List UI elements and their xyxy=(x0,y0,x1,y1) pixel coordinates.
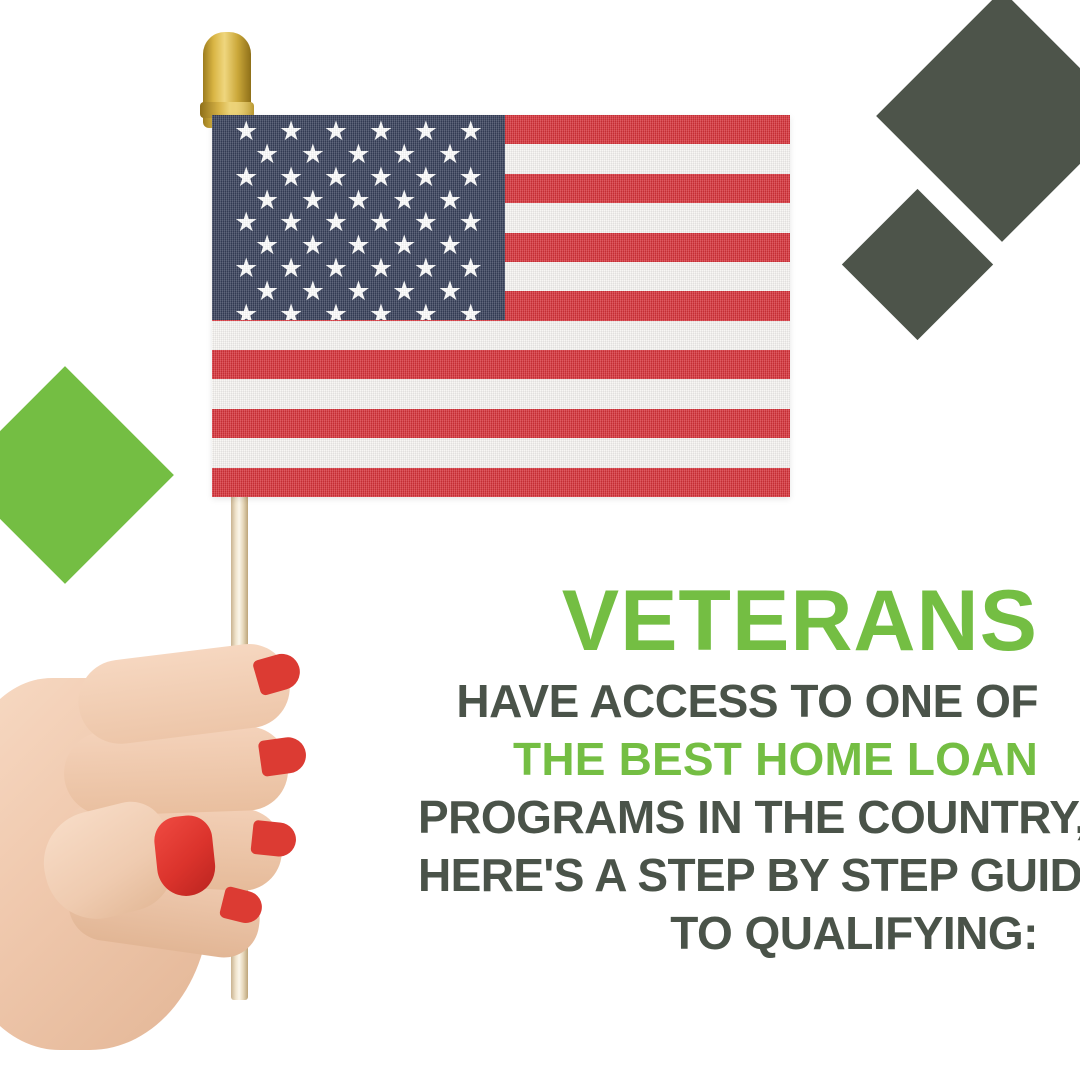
fingernail xyxy=(250,820,297,858)
headline-line-6: TO QUALIFYING: xyxy=(418,904,1038,962)
flag-stripe xyxy=(212,468,790,497)
headline-block: VETERANS HAVE ACCESS TO ONE OF THE BEST … xyxy=(418,578,1038,962)
flag-stripe xyxy=(212,438,790,467)
headline-line-5: HERE'S A STEP BY STEP GUIDE xyxy=(418,846,1038,904)
flag-star-icon: ★ xyxy=(413,301,439,321)
flag-star-icon: ★ xyxy=(368,301,394,321)
finger-middle xyxy=(63,725,290,817)
fingernail xyxy=(258,735,309,777)
flag-star-icon: ★ xyxy=(323,301,349,321)
headline-line-1: VETERANS xyxy=(418,578,1038,664)
flag-star-row: ★★★★★★ xyxy=(212,301,505,321)
headline-line-4: PROGRAMS IN THE COUNTRY, xyxy=(418,788,1038,846)
american-flag: ★★★★★★★★★★★★★★★★★★★★★★★★★★★★★★★★★★★★★★★★… xyxy=(212,115,790,497)
flag-star-icon: ★ xyxy=(458,301,484,321)
flag-stripe xyxy=(212,379,790,408)
flag-stripe xyxy=(212,350,790,379)
diamond-decoration-small xyxy=(842,189,993,340)
hand xyxy=(0,590,320,1080)
flag-stripe xyxy=(212,321,790,350)
flag-finial-icon xyxy=(203,32,251,128)
flag-star-icon: ★ xyxy=(233,301,259,321)
headline-line-3: THE BEST HOME LOAN xyxy=(418,730,1038,788)
flag-canton: ★★★★★★★★★★★★★★★★★★★★★★★★★★★★★★★★★★★★★★★★… xyxy=(212,115,505,320)
flag-star-icon: ★ xyxy=(278,301,304,321)
poster-canvas: ★★★★★★★★★★★★★★★★★★★★★★★★★★★★★★★★★★★★★★★★… xyxy=(0,0,1080,1080)
headline-line-2: HAVE ACCESS TO ONE OF xyxy=(418,672,1038,730)
flag-stripe xyxy=(212,409,790,438)
